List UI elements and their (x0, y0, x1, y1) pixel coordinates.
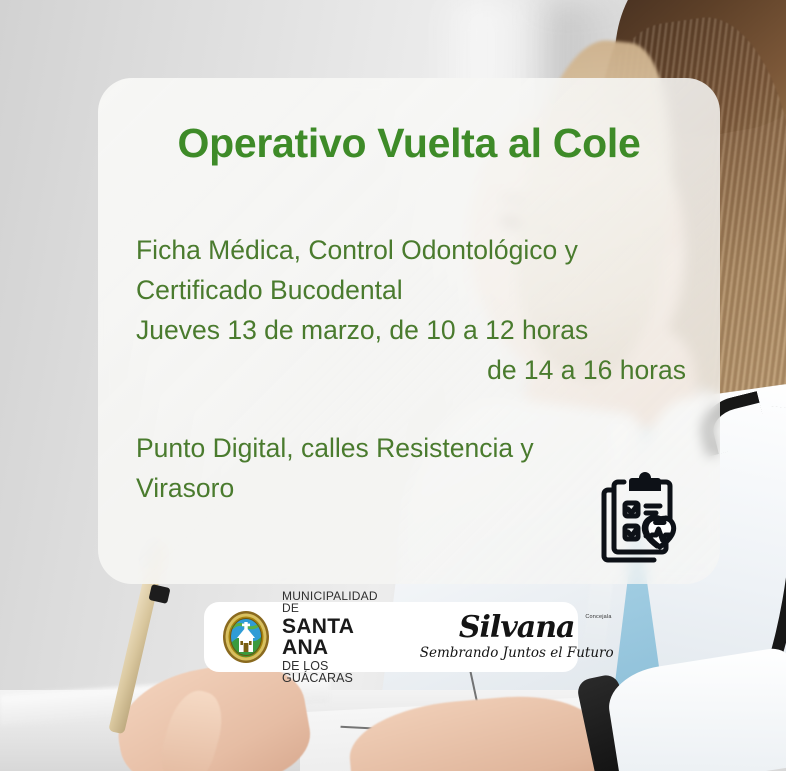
body-line-2: Certificado Bucodental (136, 270, 686, 310)
footer-logo-bar: MUNICIPALIDAD DE SANTA ANA DE LOS GUÁCAR… (204, 602, 578, 672)
official-slogan: Sembrando Juntos el Futuro (420, 645, 614, 661)
body-line-1: Ficha Médica, Control Odontológico y (136, 230, 686, 270)
poster: Operativo Vuelta al Cole Ficha Médica, C… (0, 0, 786, 771)
medical-clipboard-heart-icon (592, 468, 696, 572)
location-line-1: Punto Digital, calles Resistencia y (136, 428, 686, 468)
poster-body: Ficha Médica, Control Odontológico y Cer… (136, 230, 686, 508)
official-signature: Concejala Silvana Sembrando Juntos el Fu… (420, 613, 614, 661)
page-title: Operativo Vuelta al Cole (98, 120, 720, 167)
body-line-4: de 14 a 16 horas (136, 350, 686, 390)
municipality-line-1: MUNICIPALIDAD DE (282, 590, 378, 614)
municipality-line-2: SANTA ANA (282, 616, 378, 658)
municipality-text: MUNICIPALIDAD DE SANTA ANA DE LOS GUÁCAR… (282, 590, 378, 685)
santa-ana-crest-icon (222, 610, 270, 664)
body-spacer (136, 390, 686, 428)
municipality-line-3: DE LOS GUÁCARAS (282, 660, 378, 685)
official-role: Concejala (585, 614, 611, 620)
body-line-3: Jueves 13 de marzo, de 10 a 12 horas (136, 310, 686, 350)
